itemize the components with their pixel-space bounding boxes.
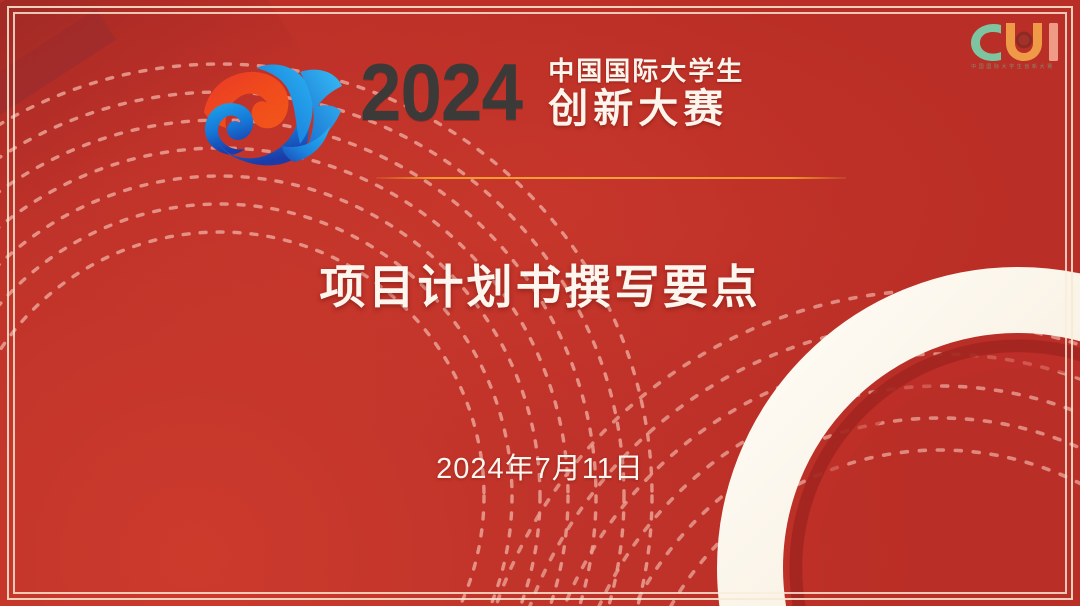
gold-divider-rule: [376, 177, 846, 179]
lockup-text-group: 2024 中国国际大学生 创新大赛: [360, 50, 744, 132]
swirl-spiral-emblem-icon: [196, 50, 346, 168]
year-label: 2024: [360, 59, 522, 129]
competition-name-line2: 创新大赛: [548, 87, 744, 132]
cui-logo-subtitle: 中国国际大学生创新大赛: [960, 63, 1066, 70]
page-title: 项目计划书撰写要点: [0, 251, 1080, 317]
competition-name-line1: 中国国际大学生: [548, 56, 744, 86]
date-label: 2024年7月11日: [0, 445, 1080, 487]
competition-lockup: 2024 中国国际大学生 创新大赛: [196, 50, 744, 168]
competition-name: 中国国际大学生 创新大赛: [548, 56, 744, 132]
cui-logo-mark: 中国国际大学生创新大赛: [960, 14, 1066, 70]
title-slide: 2024 中国国际大学生 创新大赛 项目计划书撰写要点 2024年7月11日 中…: [0, 0, 1080, 606]
